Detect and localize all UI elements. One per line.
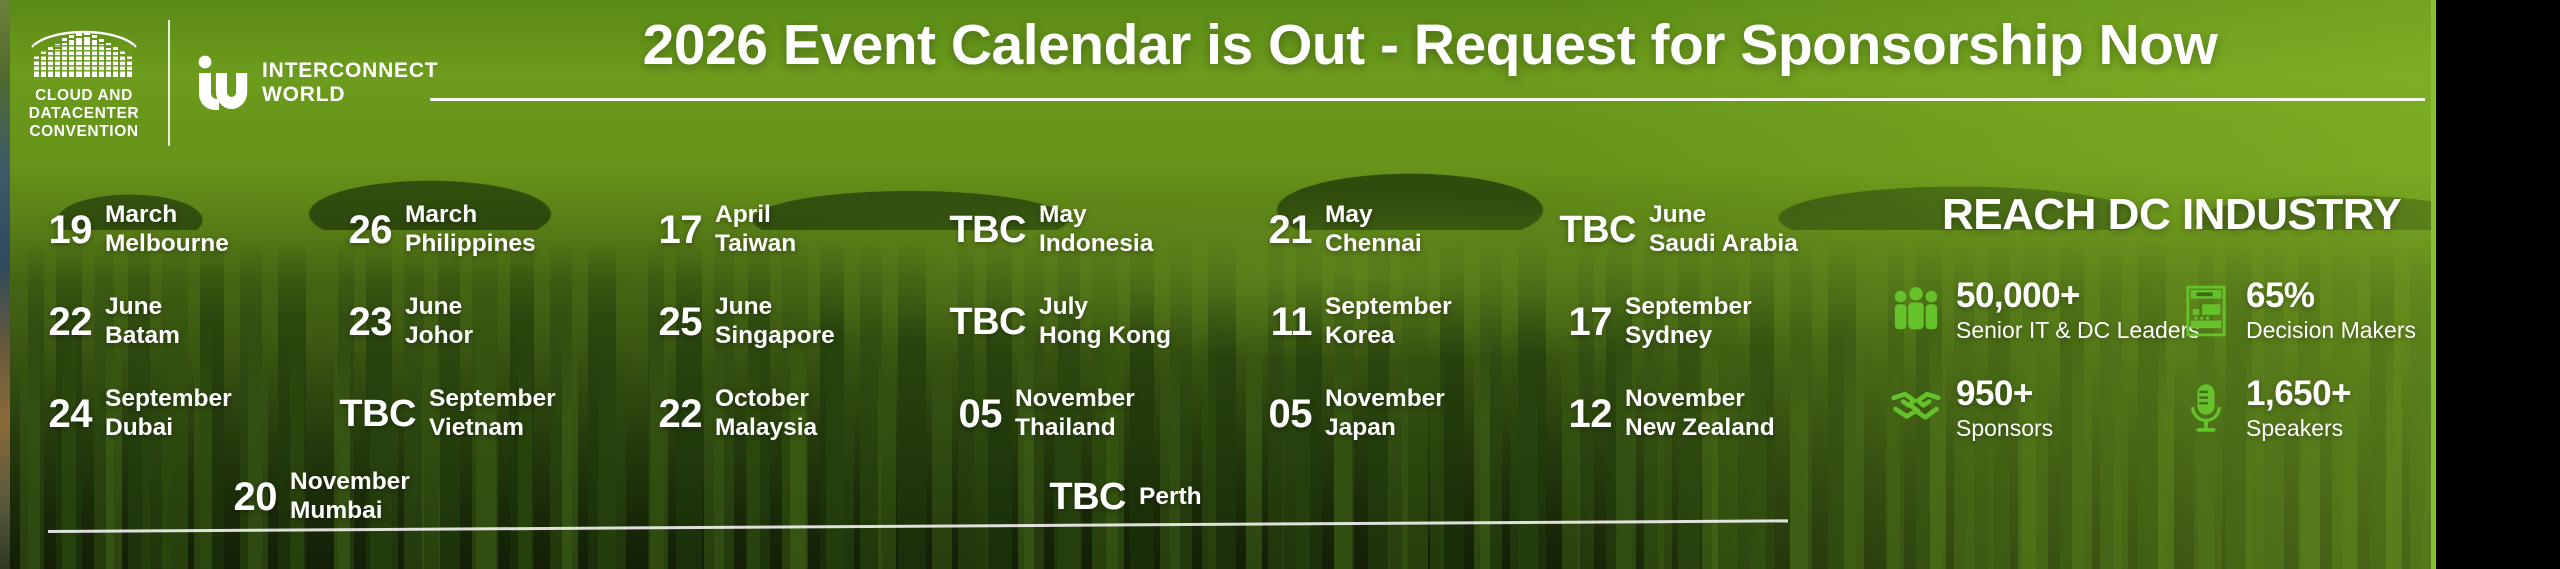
event-day: 26 — [326, 210, 392, 250]
event-item[interactable]: TBC May Indonesia — [936, 184, 1246, 276]
event-month: May — [1325, 201, 1373, 228]
calendar-row: 22 June Batam 23 June Johor 25 — [26, 276, 1826, 368]
server-rack-icon — [2180, 282, 2232, 340]
stat-number: 1,650+ — [2246, 376, 2351, 413]
people-icon — [1890, 282, 1942, 340]
calendar-row: 24 September Dubai TBC September Vietnam… — [26, 368, 1826, 460]
event-item[interactable]: 22 October Malaysia — [636, 368, 936, 460]
header-divider-rule — [430, 98, 2425, 101]
event-when: May Chennai — [1325, 201, 1422, 258]
event-city: Batam — [105, 322, 180, 351]
event-item[interactable]: 26 March Philippines — [326, 184, 636, 276]
event-when: March Philippines — [405, 201, 536, 258]
event-day: 17 — [1546, 302, 1612, 342]
event-when: April Taiwan — [715, 201, 796, 258]
event-city: Saudi Arabia — [1649, 230, 1798, 259]
event-city: Perth — [1139, 483, 1202, 510]
stat-label: Senior IT & DC Leaders — [1956, 317, 2200, 344]
event-day: 21 — [1246, 210, 1312, 250]
event-city: New Zealand — [1625, 414, 1775, 443]
event-city: Melbourne — [105, 230, 229, 259]
event-day: 11 — [1246, 302, 1312, 342]
event-city: Malaysia — [715, 414, 817, 443]
cdc-logo-line-3: CONVENTION — [29, 123, 139, 141]
event-item[interactable]: 20 November Mumbai — [211, 462, 636, 532]
cdc-logo-line-1: CLOUD AND — [29, 87, 139, 105]
stat-number: 65% — [2246, 278, 2416, 315]
cdc-logo-wordmark: CLOUD AND DATACENTER CONVENTION — [29, 87, 139, 141]
event-item[interactable]: 24 September Dubai — [26, 368, 326, 460]
event-city: Thailand — [1015, 414, 1135, 443]
iu-monogram-icon — [196, 55, 250, 111]
event-city: Sydney — [1625, 322, 1752, 351]
event-when: November New Zealand — [1625, 385, 1775, 442]
event-city: Singapore — [715, 322, 835, 351]
event-month: June — [105, 293, 162, 320]
event-when: September Vietnam — [429, 385, 556, 442]
event-item[interactable]: 19 March Melbourne — [26, 184, 326, 276]
event-when: September Sydney — [1625, 293, 1752, 350]
event-day: TBC — [1036, 478, 1126, 516]
stat-label: Sponsors — [1956, 415, 2053, 442]
stat-text-decision-makers: 65% Decision Makers — [2246, 278, 2416, 344]
event-day: 24 — [26, 394, 92, 434]
event-day: 05 — [936, 394, 1002, 434]
event-month: September — [105, 385, 232, 412]
event-day: 12 — [1546, 394, 1612, 434]
event-month: September — [1325, 293, 1452, 320]
event-when: June Saudi Arabia — [1649, 201, 1798, 258]
event-city: Philippines — [405, 230, 536, 259]
event-city: Chennai — [1325, 230, 1422, 259]
event-city: Japan — [1325, 414, 1445, 443]
event-day: TBC — [1546, 211, 1636, 249]
event-item[interactable]: 22 June Batam — [26, 276, 326, 368]
event-month: June — [1649, 201, 1706, 228]
stat-number: 950+ — [1956, 376, 2053, 413]
event-calendar-grid: 19 March Melbourne 26 March Philippines … — [26, 184, 1826, 460]
event-city: Mumbai — [290, 497, 410, 526]
event-when: November Japan — [1325, 385, 1445, 442]
event-item[interactable]: 17 September Sydney — [1546, 276, 1826, 368]
event-month: November — [290, 468, 410, 495]
reach-stats-grid: 50,000+ Senior IT & DC Leaders — [1890, 278, 2510, 442]
event-month: June — [715, 293, 772, 320]
logo-divider — [168, 20, 170, 146]
event-month: June — [405, 293, 462, 320]
stat-number: 50,000+ — [1956, 278, 2200, 315]
event-day: TBC — [936, 211, 1026, 249]
event-month: April — [715, 201, 771, 228]
cdc-logo-line-2: DATACENTER — [29, 105, 139, 123]
reach-dc-industry-panel: REACH DC INDUSTRY 50,000+ — [1890, 190, 2510, 442]
stat-item-sponsors: 950+ Sponsors — [1890, 376, 2180, 442]
cloud-datacenter-convention-logo[interactable]: CLOUD AND DATACENTER CONVENTION — [22, 25, 146, 141]
event-item[interactable]: 21 May Chennai — [1246, 184, 1546, 276]
event-day: 22 — [26, 302, 92, 342]
event-item[interactable]: TBC June Saudi Arabia — [1546, 184, 1826, 276]
stat-label: Speakers — [2246, 415, 2351, 442]
event-city: Korea — [1325, 322, 1452, 351]
event-when: November Mumbai — [290, 468, 410, 525]
handshake-icon — [1890, 380, 1942, 438]
event-item[interactable]: 23 June Johor — [326, 276, 636, 368]
event-city: Vietnam — [429, 414, 556, 443]
event-month: November — [1325, 385, 1445, 412]
event-when: March Melbourne — [105, 201, 229, 258]
event-day: TBC — [326, 395, 416, 433]
event-day: 17 — [636, 210, 702, 250]
event-item[interactable]: 11 September Korea — [1246, 276, 1546, 368]
event-when: July Hong Kong — [1039, 293, 1171, 350]
event-item[interactable]: TBC July Hong Kong — [936, 276, 1246, 368]
logo-lockup[interactable]: CLOUD AND DATACENTER CONVENTION INTERCON… — [22, 20, 438, 146]
stat-label: Decision Makers — [2246, 317, 2416, 344]
event-city: Dubai — [105, 414, 232, 443]
event-item[interactable]: 17 April Taiwan — [636, 184, 936, 276]
banner-header: CLOUD AND DATACENTER CONVENTION INTERCON… — [0, 0, 2560, 160]
event-day: 05 — [1246, 394, 1312, 434]
reach-panel-title: REACH DC INDUSTRY — [1942, 190, 2510, 240]
event-when: Perth — [1139, 483, 1202, 512]
iw-logo-wordmark: INTERCONNECT WORLD — [262, 59, 438, 108]
event-city: Taiwan — [715, 230, 796, 259]
event-when: June Johor — [405, 293, 473, 350]
stat-item-decision-makers: 65% Decision Makers — [2180, 278, 2480, 344]
event-month: September — [429, 385, 556, 412]
event-when: November Thailand — [1015, 385, 1135, 442]
event-when: May Indonesia — [1039, 201, 1153, 258]
stat-text-speakers: 1,650+ Speakers — [2246, 376, 2351, 442]
datacenter-bars-icon — [28, 25, 140, 83]
stat-item-speakers: 1,650+ Speakers — [2180, 376, 2480, 442]
stat-text-sponsors: 950+ Sponsors — [1956, 376, 2053, 442]
event-when: June Batam — [105, 293, 180, 350]
event-city: Indonesia — [1039, 230, 1153, 259]
event-city: Hong Kong — [1039, 322, 1171, 351]
event-when: June Singapore — [715, 293, 835, 350]
event-item[interactable]: 25 June Singapore — [636, 276, 936, 368]
event-city: Johor — [405, 322, 473, 351]
event-month: November — [1625, 385, 1745, 412]
event-item[interactable]: 05 November Thailand — [936, 368, 1246, 460]
event-month: July — [1039, 293, 1088, 320]
calendar-row: 19 March Melbourne 26 March Philippines … — [26, 184, 1826, 276]
interconnect-world-logo[interactable]: INTERCONNECT WORLD — [196, 55, 438, 111]
event-when: October Malaysia — [715, 385, 817, 442]
microphone-icon — [2180, 380, 2232, 438]
event-day: 25 — [636, 302, 702, 342]
event-item[interactable]: 05 November Japan — [1246, 368, 1546, 460]
event-when: September Korea — [1325, 293, 1452, 350]
event-item[interactable]: 12 November New Zealand — [1546, 368, 1826, 460]
event-month: October — [715, 385, 809, 412]
iw-logo-line-2: WORLD — [262, 83, 438, 107]
event-month: September — [1625, 293, 1752, 320]
event-month: November — [1015, 385, 1135, 412]
event-day: 19 — [26, 210, 92, 250]
event-month: March — [105, 201, 177, 228]
event-month: May — [1039, 201, 1087, 228]
page-title: 2026 Event Calendar is Out - Request for… — [430, 16, 2430, 76]
event-item[interactable]: TBC September Vietnam — [326, 368, 636, 460]
iw-logo-line-1: INTERCONNECT — [262, 59, 438, 83]
event-day: 22 — [636, 394, 702, 434]
stat-text-leaders: 50,000+ Senior IT & DC Leaders — [1956, 278, 2200, 344]
event-month: March — [405, 201, 477, 228]
event-day: TBC — [936, 303, 1026, 341]
event-calendar-banner: CLOUD AND DATACENTER CONVENTION INTERCON… — [0, 0, 2560, 569]
event-day: 23 — [326, 302, 392, 342]
event-when: September Dubai — [105, 385, 232, 442]
stat-item-leaders: 50,000+ Senior IT & DC Leaders — [1890, 278, 2180, 344]
event-day: 20 — [211, 477, 277, 517]
